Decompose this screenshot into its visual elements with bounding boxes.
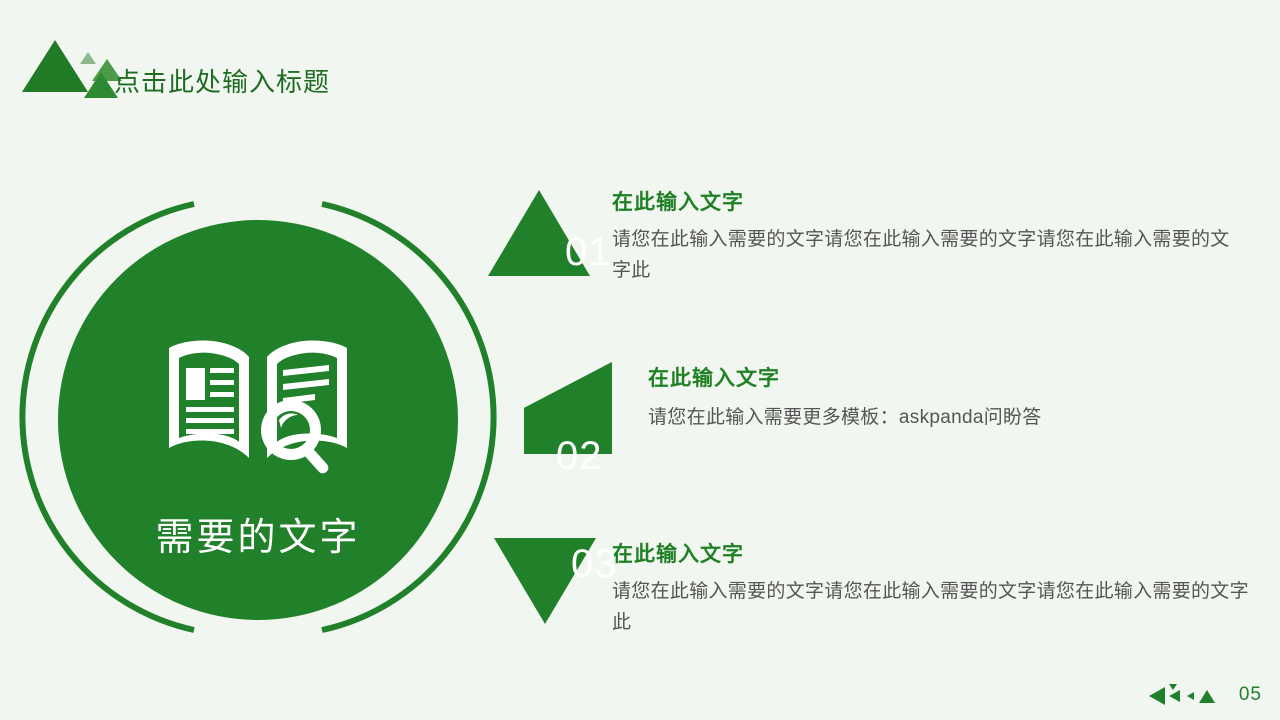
list-item[interactable]: 01 在此输入文字 请您在此输入需要的文字请您在此输入需要的文字请您在此输入需要… (488, 186, 1248, 287)
item-text-block: 在此输入文字 请您在此输入需要的文字请您在此输入需要的文字请您在此输入需要的文字… (612, 186, 1248, 287)
open-book-with-magnifier-icon (165, 338, 351, 488)
arrow-triangles-decoration (1149, 684, 1233, 706)
logo-triangle-large-icon (22, 40, 88, 92)
triangle-left-medium-icon (1169, 690, 1180, 702)
list-item[interactable]: 03 在此输入文字 请您在此输入需要的文字请您在此输入需要的文字请您在此输入需要… (494, 538, 1254, 639)
item-text-block: 在此输入文字 请您在此输入需要的文字请您在此输入需要的文字请您在此输入需要的文字… (612, 538, 1254, 639)
item-body: 请您在此输入需要更多模板：askpanda问盼答 (648, 402, 1254, 433)
page-number: 05 (1239, 684, 1262, 706)
item-number: 02 (556, 436, 603, 476)
slide-canvas: 点击此处输入标题 (0, 0, 1280, 720)
center-graphic: 需要的文字 (8, 182, 528, 652)
logo-triangle-small-icon (84, 72, 118, 98)
center-label: 需要的文字 (58, 506, 458, 561)
item-title: 在此输入文字 (612, 538, 1254, 568)
item-number: 03 (571, 544, 618, 584)
triangle-left-tiny-icon (1187, 692, 1194, 700)
triangle-up-icon: 01 (488, 190, 590, 276)
triangle-left-large-icon (1149, 687, 1165, 705)
item-text-block: 在此输入文字 请您在此输入需要更多模板：askpanda问盼答 (648, 362, 1254, 433)
item-body: 请您在此输入需要的文字请您在此输入需要的文字请您在此输入需要的文字此 (612, 224, 1248, 287)
list-item[interactable]: 02 在此输入文字 请您在此输入需要更多模板：askpanda问盼答 (524, 362, 1254, 433)
slide-header: 点击此处输入标题 (0, 0, 1280, 130)
item-number: 01 (565, 232, 612, 272)
triangle-up-icon (1199, 690, 1215, 703)
slide-footer: 05 (1149, 682, 1262, 708)
triangle-left-number-holder: 02 (524, 362, 612, 454)
triangle-down-icon: 03 (494, 538, 596, 624)
item-title: 在此输入文字 (612, 186, 1248, 216)
item-title: 在此输入文字 (648, 362, 1254, 392)
page-title: 点击此处输入标题 (114, 62, 330, 99)
mountain-triangles-logo (18, 34, 118, 96)
center-disc: 需要的文字 (58, 220, 458, 620)
item-body: 请您在此输入需要的文字请您在此输入需要的文字请您在此输入需要的文字此 (612, 576, 1254, 639)
